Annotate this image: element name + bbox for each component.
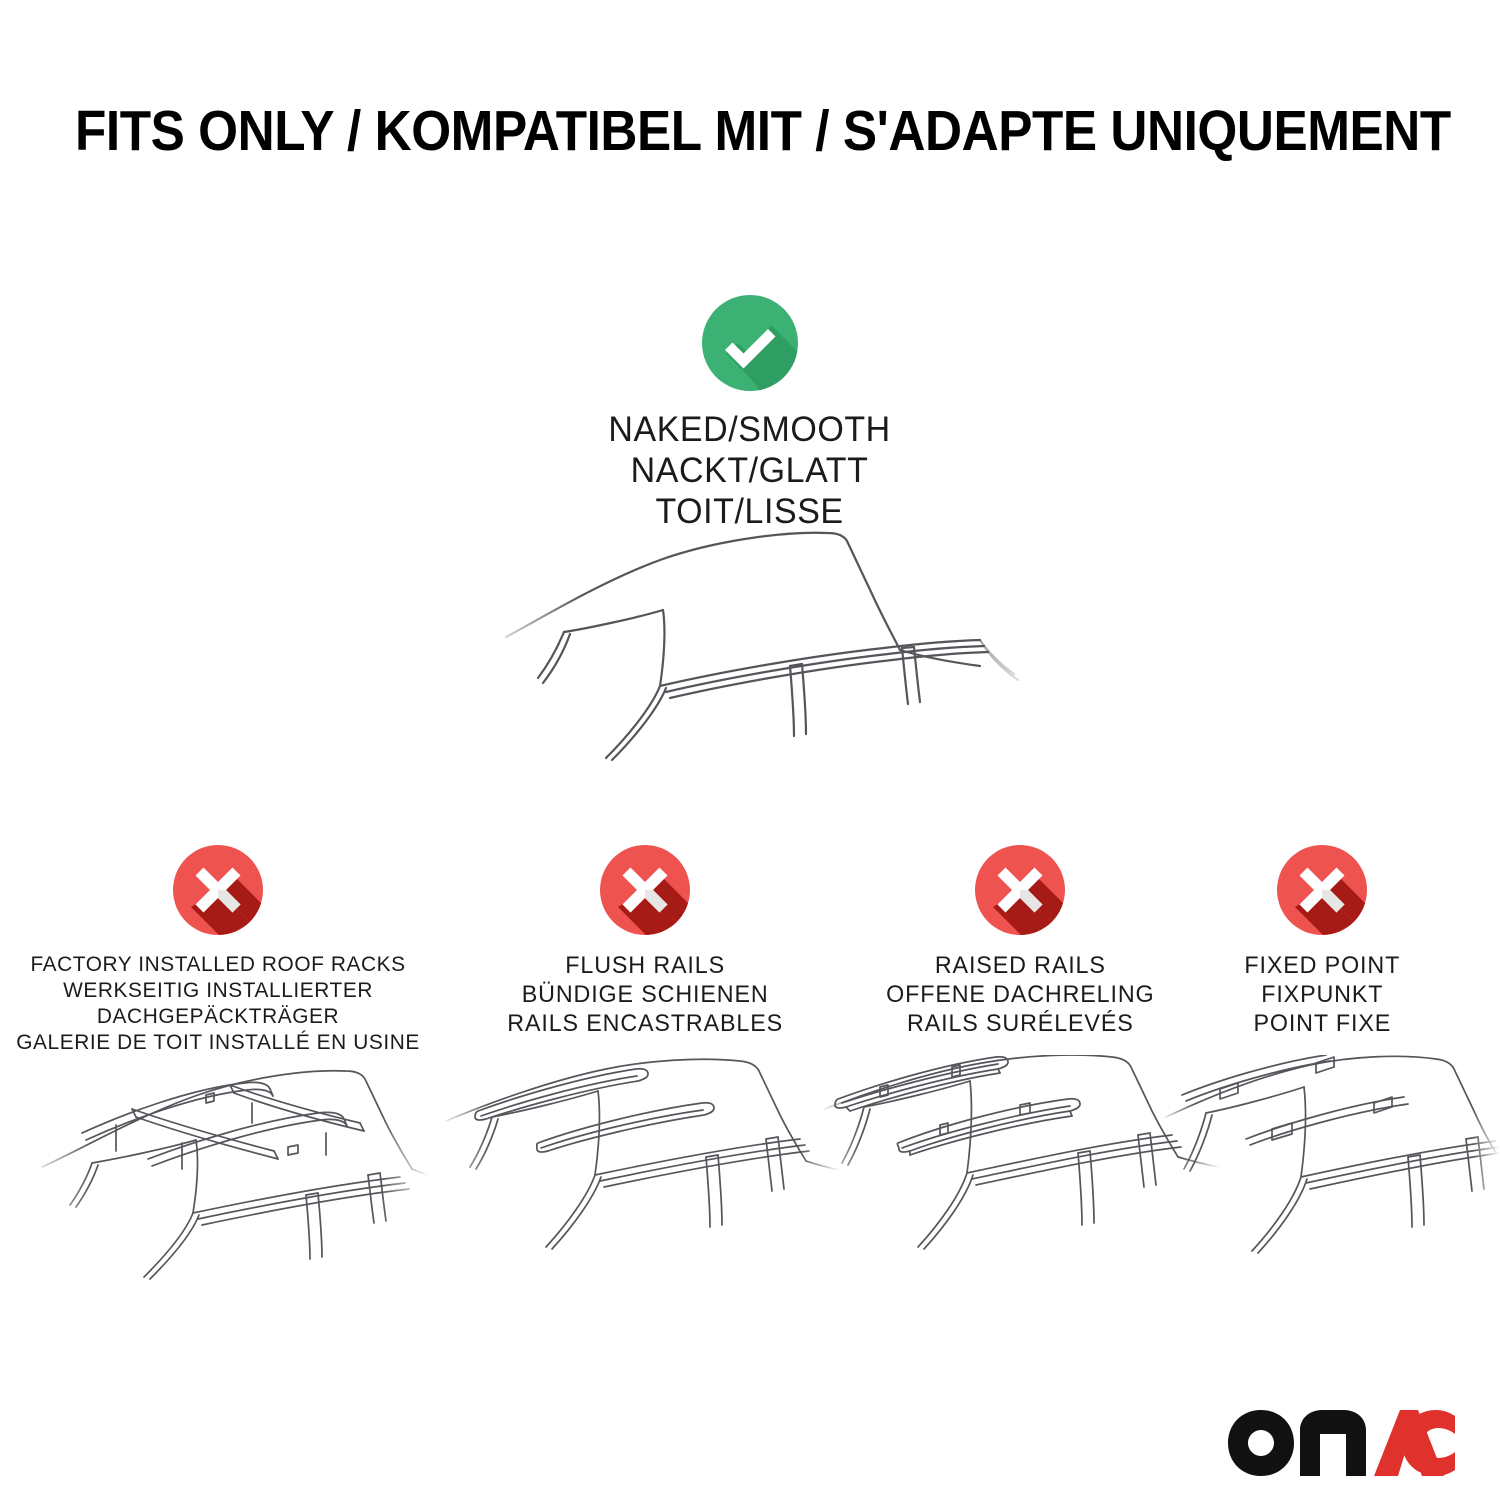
page-title: FITS ONLY / KOMPATIBEL MIT / S'ADAPTE UN… [75,98,1425,164]
incompatible-label-flush-rails: FLUSH RAILS BÜNDIGE SCHIENEN RAILS ENCAS… [507,951,783,1038]
label-line-3: RAILS ENCASTRABLES [507,1009,783,1038]
label-line-1: FLUSH RAILS [507,951,783,980]
incompatible-column-flush-rails: FLUSH RAILS BÜNDIGE SCHIENEN RAILS ENCAS… [435,845,855,1038]
compatible-section: NAKED/SMOOTH NACKT/GLATT TOIT/LISSE [0,295,1500,532]
compatible-label-line-2: NACKT/GLATT [609,450,891,491]
x-circle-icon [1277,845,1367,935]
logo-letter-o [1228,1410,1294,1476]
car-roof-flush-rails-illustration [440,1055,840,1285]
fitment-info-graphic: FITS ONLY / KOMPATIBEL MIT / S'ADAPTE UN… [0,0,1500,1500]
x-circle-icon [975,845,1065,935]
compatible-label: NAKED/SMOOTH NACKT/GLATT TOIT/LISSE [609,409,891,532]
car-roof-fixed-point-illustration [1160,1055,1500,1285]
logo-letter-m [1300,1410,1366,1476]
label-line-1: FIXED POINT [1244,951,1400,980]
label-line-2: BÜNDIGE SCHIENEN [507,980,783,1009]
car-roof-naked-smooth-illustration [480,520,1040,820]
label-line-2: FIXPUNKT [1244,980,1400,1009]
x-circle-icon [600,845,690,935]
compatible-label-line-1: NAKED/SMOOTH [609,409,891,450]
x-circle-icon [173,845,263,935]
check-circle-icon [702,295,798,391]
omac-logo [1226,1408,1456,1478]
incompatible-label-factory-roof-racks: FACTORY INSTALLED ROOF RACKS WERKSEITIG … [16,951,420,1055]
incompatible-column-fixed-point: FIXED POINT FIXPUNKT POINT FIXE [1112,845,1500,1038]
car-roof-factory-roof-racks-illustration [30,1055,430,1285]
label-line-3: DACHGEPÄCKTRÄGER [16,1003,420,1029]
label-line-4: GALERIE DE TOIT INSTALLÉ EN USINE [16,1029,420,1055]
incompatible-label-fixed-point: FIXED POINT FIXPUNKT POINT FIXE [1244,951,1400,1038]
label-line-1: FACTORY INSTALLED ROOF RACKS [16,951,420,977]
label-line-3: POINT FIXE [1244,1009,1400,1038]
label-line-2: WERKSEITIG INSTALLIERTER [16,977,420,1003]
incompatible-column-factory-roof-racks: FACTORY INSTALLED ROOF RACKS WERKSEITIG … [8,845,428,1055]
